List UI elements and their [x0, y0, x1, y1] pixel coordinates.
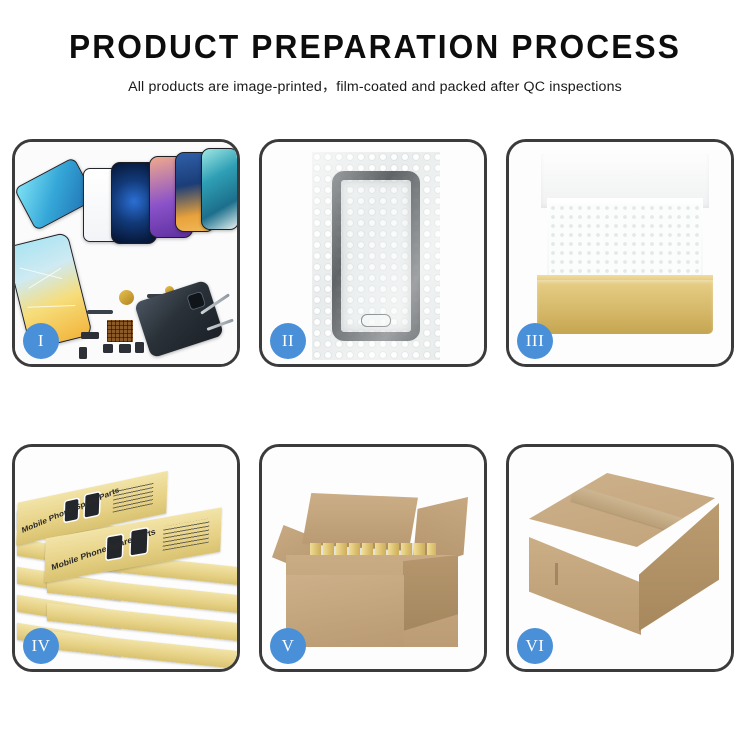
step-badge-6: VI [517, 628, 553, 664]
process-step-panel-4[interactable]: Mobile Phone Spare Parts Mobile Phone Sp… [12, 444, 240, 672]
process-step-panel-6[interactable]: VI [506, 444, 734, 672]
sealed-carton [521, 473, 725, 647]
home-button-cutout [361, 314, 391, 327]
step-badge-3: III [517, 323, 553, 359]
box-art-spec-lines-b [163, 519, 210, 551]
bubble-wrap-film [312, 152, 440, 360]
part-speaker-coil [119, 290, 134, 305]
box-tray-kraft [537, 280, 713, 334]
step-badge-1: I [23, 323, 59, 359]
page-title: PRODUCT PREPARATION PROCESS [15, 30, 735, 65]
part-chip-array [107, 320, 133, 342]
step-badge-5: V [270, 628, 306, 664]
process-step-panel-3[interactable]: III [506, 139, 734, 367]
process-step-panel-5[interactable]: V [259, 444, 487, 672]
step-badge-4: IV [23, 628, 59, 664]
page-header: PRODUCT PREPARATION PROCESS All products… [0, 0, 750, 96]
part-button-1 [103, 344, 113, 353]
part-flex-cable-1 [87, 310, 113, 314]
process-step-panel-1[interactable]: I [12, 139, 240, 367]
packing-tape [571, 485, 696, 537]
part-camera-module [135, 342, 144, 353]
step-badge-2: II [270, 323, 306, 359]
foam-padding [549, 204, 701, 286]
part-connector-1 [81, 332, 99, 339]
phone-screen-teal [201, 148, 237, 230]
page-subtitle: All products are image-printed，film-coat… [0, 76, 750, 96]
part-button-2 [119, 344, 131, 353]
process-step-panel-2[interactable]: II [259, 139, 487, 367]
carton-seam-upper [555, 563, 558, 585]
part-sim-tray [79, 347, 87, 359]
wrapped-phone-screen [332, 171, 420, 341]
process-step-grid: I II III [12, 139, 738, 672]
carton-seam-lower [555, 613, 558, 633]
